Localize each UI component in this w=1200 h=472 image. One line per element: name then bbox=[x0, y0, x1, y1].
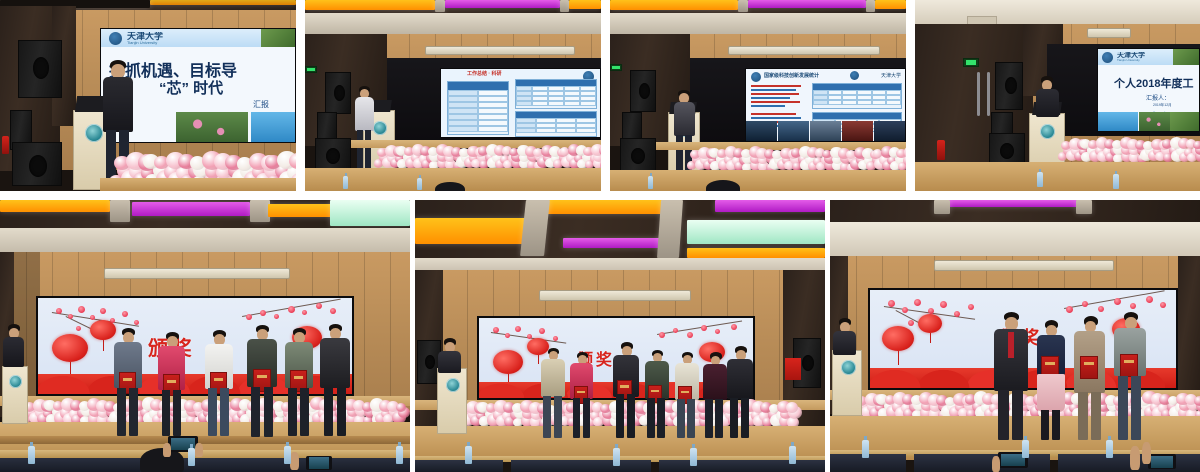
water-bottle bbox=[690, 448, 697, 466]
air-conditioner bbox=[104, 268, 290, 279]
water-bottle bbox=[862, 440, 869, 458]
air-conditioner bbox=[539, 290, 691, 301]
lantern-icon bbox=[882, 326, 914, 351]
hand bbox=[163, 443, 171, 457]
balloon bbox=[1193, 141, 1200, 150]
stage-speaker bbox=[18, 40, 62, 98]
photo-6[interactable]: 颁奖 bbox=[415, 200, 825, 472]
water-bottle bbox=[28, 446, 35, 464]
water-bottle bbox=[188, 448, 195, 466]
presentation-slide: 工作总结 · 科研 bbox=[440, 68, 601, 138]
air-conditioner bbox=[728, 46, 880, 55]
water-bottle bbox=[284, 446, 291, 464]
tju-logo-icon bbox=[109, 32, 122, 45]
podium-seal-icon bbox=[9, 375, 22, 388]
photo-7[interactable]: 颁奖 bbox=[830, 200, 1200, 472]
award-recipient bbox=[245, 325, 279, 437]
lantern-icon bbox=[52, 334, 88, 362]
slide-thumb-sky bbox=[1098, 112, 1138, 131]
photo-1[interactable]: 天津大学 Tianjin University 抢抓机遇、目标导 “芯” 时代 … bbox=[0, 0, 296, 191]
slide-thumb-sky bbox=[251, 112, 295, 142]
water-bottle bbox=[1037, 172, 1043, 187]
host bbox=[2, 324, 26, 370]
photo-4[interactable]: 天津大学 Tianjin University 个人2018年度工 汇报人： 2… bbox=[915, 0, 1200, 191]
slide-thumb-campus bbox=[1170, 112, 1199, 131]
air-conditioner bbox=[934, 260, 1114, 271]
slide-thumb-flower bbox=[1139, 112, 1171, 131]
tju-logo-icon bbox=[751, 72, 761, 82]
audience-head bbox=[706, 180, 740, 191]
photo-collage: 天津大学 Tianjin University 抢抓机遇、目标导 “芯” 时代 … bbox=[0, 0, 1200, 472]
lantern-icon bbox=[918, 314, 942, 333]
award-recipient bbox=[1072, 316, 1108, 440]
award-recipient bbox=[1112, 312, 1148, 440]
air-conditioner bbox=[425, 46, 575, 55]
slide-sub-line1: 汇报 bbox=[253, 99, 269, 110]
slide-title: 国家级科技创新发展统计 bbox=[764, 72, 819, 79]
water-bottle bbox=[789, 446, 796, 464]
award-recipient bbox=[283, 328, 315, 436]
water-bottle bbox=[1106, 440, 1113, 458]
podium-seal-icon bbox=[446, 378, 460, 392]
slide-title-line1: 个人2018年度工 bbox=[1114, 75, 1193, 91]
award-recipient bbox=[318, 324, 352, 436]
poster bbox=[785, 358, 801, 380]
audience-head bbox=[435, 182, 465, 191]
balloon-arch bbox=[1065, 135, 1200, 163]
hand bbox=[195, 443, 203, 457]
award-recipient bbox=[611, 342, 641, 438]
exit-sign bbox=[610, 64, 622, 71]
water-bottle bbox=[417, 178, 422, 190]
water-bottle bbox=[648, 176, 653, 189]
certificate bbox=[1120, 354, 1138, 377]
podium bbox=[2, 366, 28, 424]
water-bottle bbox=[396, 446, 403, 464]
water-bottle bbox=[343, 176, 348, 189]
balloon-arch bbox=[381, 142, 601, 170]
hand bbox=[1142, 442, 1151, 464]
host bbox=[437, 338, 463, 372]
slide-logo-name-en: Tianjin University bbox=[1117, 59, 1145, 62]
presenter bbox=[1033, 76, 1061, 116]
presenter bbox=[353, 86, 377, 172]
slide-sub-line2: 2019年12月 bbox=[1153, 103, 1172, 108]
slide-logo-name: 天津大学 bbox=[881, 72, 901, 79]
water-bottle bbox=[1113, 174, 1119, 189]
award-recipient bbox=[112, 328, 144, 436]
presentation-slide: 天津大学 Tianjin University 个人2018年度工 汇报人： 2… bbox=[1097, 48, 1200, 132]
balloon bbox=[1194, 396, 1200, 406]
award-recipient bbox=[673, 352, 701, 438]
certificate bbox=[1080, 356, 1098, 379]
exit-sign bbox=[963, 58, 979, 67]
fire-extinguisher bbox=[937, 140, 945, 160]
award-recipient bbox=[157, 332, 187, 436]
water-bottle bbox=[465, 446, 472, 464]
phone[interactable] bbox=[306, 456, 332, 470]
podium-seal-icon bbox=[1040, 124, 1055, 139]
phone[interactable] bbox=[1148, 454, 1176, 469]
podium-seal-icon bbox=[841, 360, 856, 375]
slide-title: 工作总结 · 科研 bbox=[467, 70, 501, 77]
fire-extinguisher bbox=[2, 136, 9, 154]
tju-logo-icon bbox=[1102, 52, 1113, 63]
award-recipient bbox=[203, 330, 235, 436]
award-recipient bbox=[725, 346, 755, 438]
photo-5[interactable]: 颁奖 bbox=[0, 200, 410, 472]
award-recipient bbox=[569, 352, 595, 438]
award-recipient bbox=[1034, 320, 1068, 440]
award-recipient bbox=[539, 348, 567, 438]
slide-sub-line1: 汇报人： bbox=[1146, 93, 1170, 102]
air-conditioner bbox=[1087, 28, 1131, 38]
slide-title-line2: “芯” 时代 bbox=[159, 77, 223, 98]
exit-sign bbox=[305, 66, 317, 73]
balloon-arch bbox=[694, 144, 906, 172]
podium bbox=[832, 350, 862, 416]
hand bbox=[1130, 446, 1140, 470]
photo-3[interactable]: 国家级科技创新发展统计 天津大学 bbox=[610, 0, 906, 191]
water-bottle bbox=[613, 448, 620, 466]
photo-2[interactable]: 工作总结 · 科研 bbox=[305, 0, 601, 191]
lantern-icon bbox=[493, 350, 523, 374]
hand bbox=[992, 456, 1000, 472]
host bbox=[832, 318, 858, 354]
slide-logo-name-en: Tianjin University bbox=[127, 41, 163, 45]
hand bbox=[290, 452, 299, 470]
slide-thumb-flower bbox=[176, 112, 248, 142]
award-recipient bbox=[643, 350, 671, 438]
water-bottle bbox=[1022, 440, 1029, 458]
podium bbox=[437, 368, 467, 434]
presenting-leader bbox=[992, 312, 1030, 440]
presentation-slide: 国家级科技创新发展统计 天津大学 bbox=[745, 68, 906, 142]
